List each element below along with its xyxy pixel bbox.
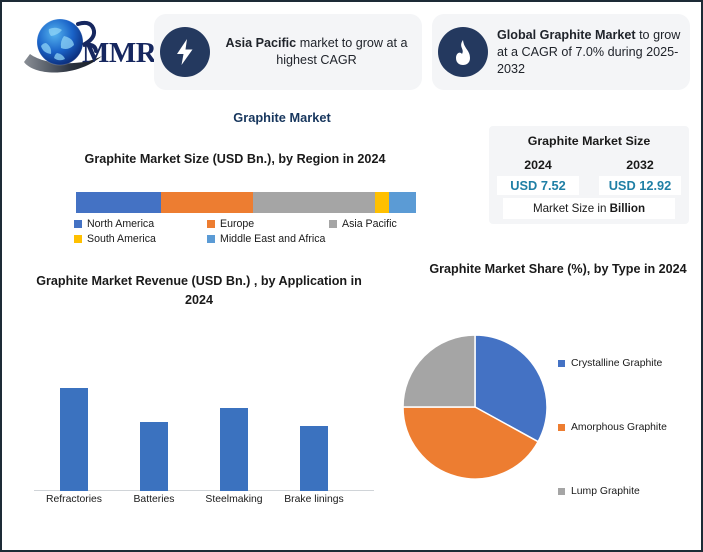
- legend-label-asia-pacific: Asia Pacific: [342, 218, 397, 230]
- application-bar-refractories: [60, 388, 88, 491]
- mmr-globe-logo: MMR: [16, 12, 154, 84]
- pie-label-crystalline-graphite: Crystalline Graphite: [571, 358, 662, 369]
- market-size-year-end: 2032: [601, 158, 679, 172]
- lightning-bolt-icon: [160, 27, 210, 77]
- legend-label-south-america: South America: [87, 233, 156, 245]
- pie-label-lump-graphite: Lump Graphite: [571, 486, 640, 497]
- header-card-asia-pacific-text: Asia Pacific market to grow at a highest…: [219, 35, 414, 69]
- header-card-global-market: Global Graphite Market to grow at a CAGR…: [432, 14, 690, 90]
- region-segment-south-america: [375, 192, 389, 213]
- region-segment-middle-east-africa: [389, 192, 416, 213]
- pie-swatch-amorphous-graphite: [558, 424, 565, 431]
- legend-swatch-asia-pacific: [329, 220, 337, 228]
- application-bar-brake-linings: [300, 426, 328, 491]
- pie-slices: [403, 335, 547, 479]
- header-card-asia-pacific-lead: Asia Pacific: [225, 36, 296, 50]
- pie-legend-item-amorphous-graphite: Amorphous Graphite: [558, 422, 667, 433]
- mmr-logo: MMR: [16, 12, 154, 84]
- legend-swatch-north-america: [74, 220, 82, 228]
- region-stacked-bar: [76, 192, 416, 213]
- page-title: Graphite Market: [2, 110, 562, 125]
- market-size-footer-unit: Billion: [610, 202, 645, 215]
- legend-item-europe: Europe: [207, 218, 329, 230]
- application-label-refractories: Refractories: [34, 494, 114, 505]
- pie-legend-item-lump-graphite: Lump Graphite: [558, 486, 640, 497]
- legend-label-europe: Europe: [220, 218, 254, 230]
- pie-label-amorphous-graphite: Amorphous Graphite: [571, 422, 667, 433]
- legend-item-north-america: North America: [74, 218, 207, 230]
- region-chart-legend: North America Europe Asia Pacific South …: [74, 218, 424, 248]
- type-share-pie-chart: [400, 332, 550, 482]
- flame-icon: [438, 27, 488, 77]
- legend-item-asia-pacific: Asia Pacific: [329, 218, 424, 230]
- application-label-brake-linings: Brake linings: [274, 494, 354, 505]
- market-size-value-end: USD 12.92: [599, 176, 681, 195]
- application-column-refractories: Refractories: [34, 377, 114, 491]
- application-bar-steelmaking: [220, 408, 248, 491]
- market-size-heading: Graphite Market Size: [489, 134, 689, 148]
- market-size-footer: Market Size in Billion: [503, 198, 675, 219]
- market-size-value-start: USD 7.52: [497, 176, 579, 195]
- application-column-steelmaking: Steelmaking: [194, 377, 274, 491]
- region-chart-title: Graphite Market Size (USD Bn.), by Regio…: [30, 152, 440, 166]
- pie-swatch-crystalline-graphite: [558, 360, 565, 367]
- type-share-chart-title: Graphite Market Share (%), by Type in 20…: [424, 260, 692, 279]
- market-size-box: Graphite Market Size 2024 2032 USD 7.52 …: [489, 126, 689, 224]
- infographic-canvas: MMR Asia Pacific market to grow at a hig…: [0, 0, 703, 552]
- application-column-brake-linings: Brake linings: [274, 377, 354, 491]
- legend-swatch-europe: [207, 220, 215, 228]
- header-card-asia-pacific-rest: market to grow at a highest CAGR: [276, 36, 407, 67]
- legend-item-south-america: South America: [74, 233, 207, 245]
- header-card-global-market-text: Global Graphite Market to grow at a CAGR…: [497, 27, 682, 78]
- legend-swatch-south-america: [74, 235, 82, 243]
- region-segment-north-america: [76, 192, 161, 213]
- market-size-footer-prefix: Market Size in: [533, 202, 610, 215]
- application-label-steelmaking: Steelmaking: [194, 494, 274, 505]
- pie-slice-lump-graphite: [403, 335, 475, 407]
- application-column-batteries: Batteries: [114, 377, 194, 491]
- region-segment-europe: [161, 192, 253, 213]
- application-label-batteries: Batteries: [114, 494, 194, 505]
- legend-label-middle-east-africa: Middle East and Africa: [220, 233, 325, 245]
- application-revenue-bar-chart: Refractories Batteries Steelmaking Brake…: [34, 377, 374, 517]
- pie-legend-item-crystalline-graphite: Crystalline Graphite: [558, 358, 662, 369]
- logo-wordmark: MMR: [82, 37, 154, 69]
- application-bar-batteries: [140, 422, 168, 491]
- pie-swatch-lump-graphite: [558, 488, 565, 495]
- region-segment-asia-pacific: [253, 192, 375, 213]
- legend-swatch-middle-east-africa: [207, 235, 215, 243]
- application-chart-title: Graphite Market Revenue (USD Bn.) , by A…: [34, 272, 364, 310]
- legend-label-north-america: North America: [87, 218, 154, 230]
- header-card-asia-pacific: Asia Pacific market to grow at a highest…: [154, 14, 422, 90]
- legend-item-middle-east-africa: Middle East and Africa: [207, 233, 387, 245]
- header-card-global-market-lead: Global Graphite Market: [497, 28, 636, 42]
- market-size-year-start: 2024: [499, 158, 577, 172]
